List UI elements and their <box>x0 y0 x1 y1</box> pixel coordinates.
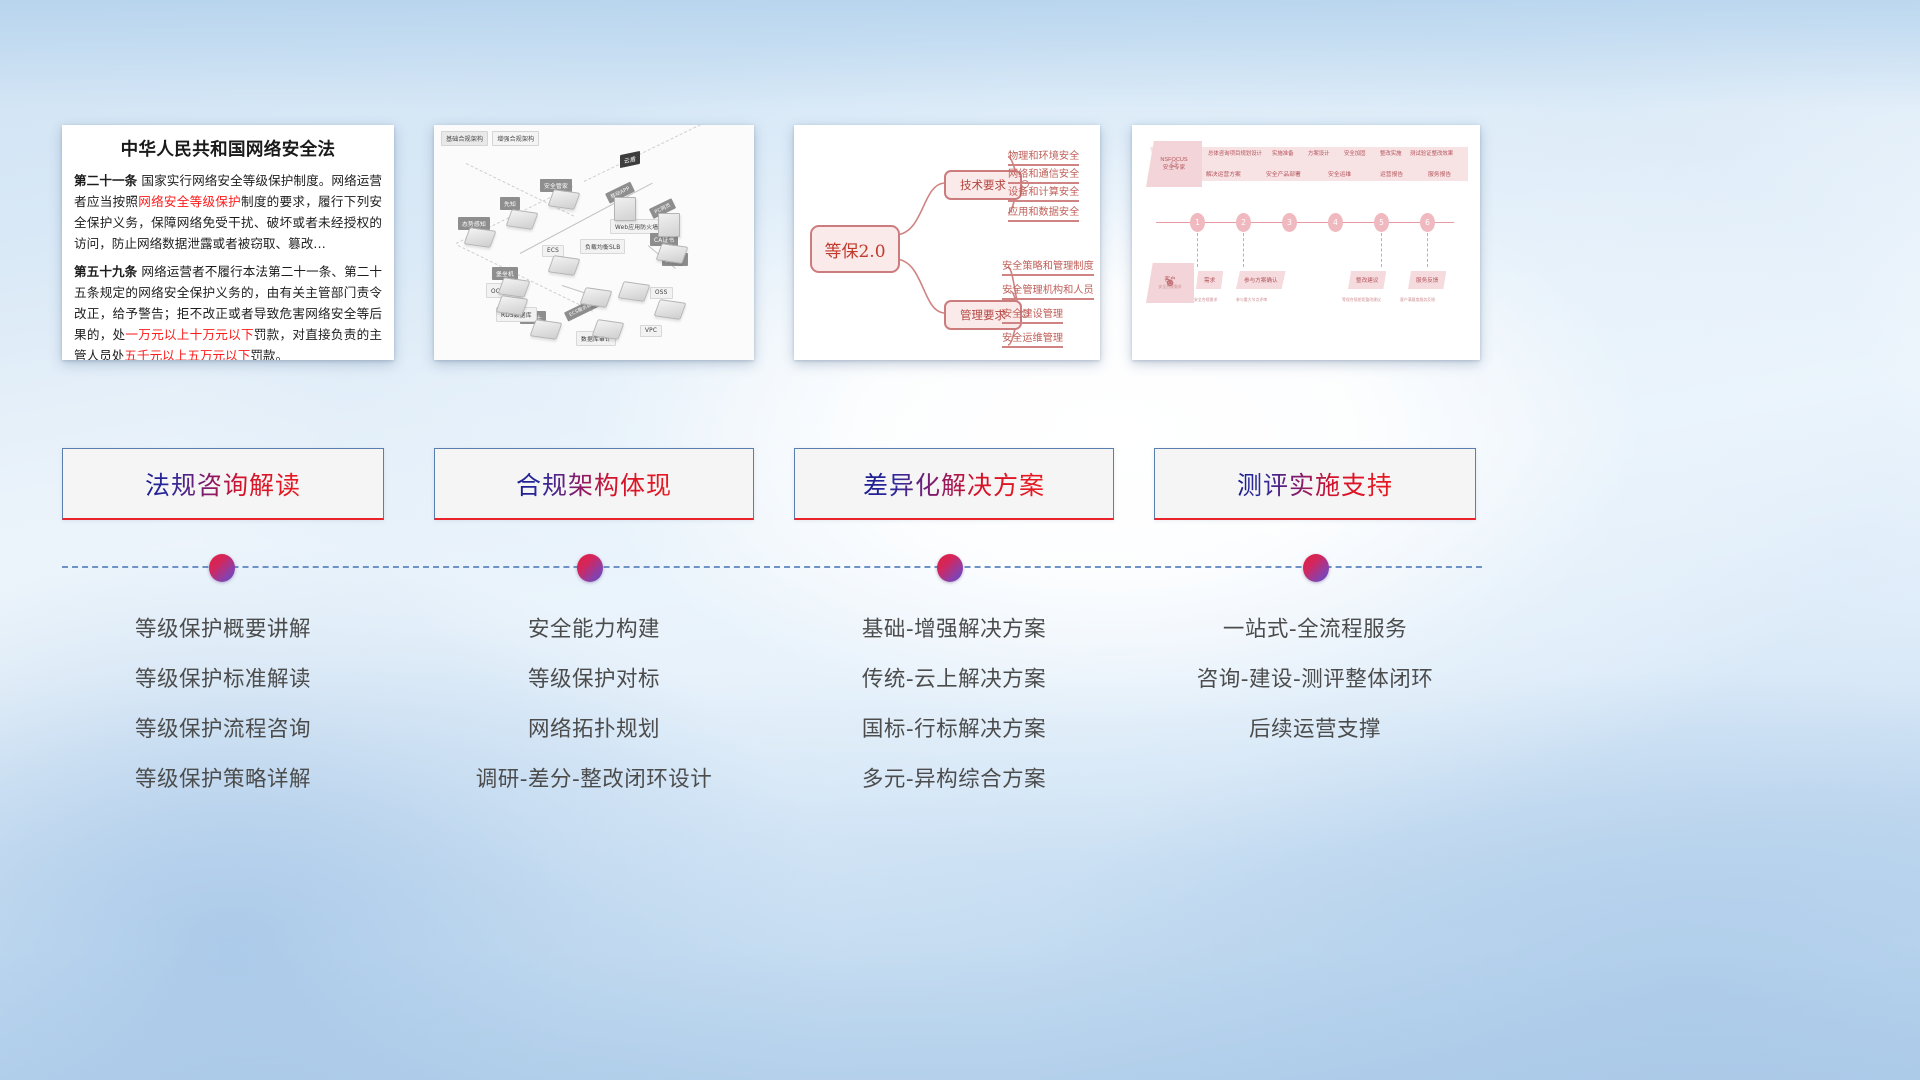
customer-badge: ☻ 客户 安全合规需求 <box>1146 263 1194 303</box>
process-step: 4 <box>1328 213 1343 232</box>
slide-stage: 中华人民共和国网络安全法 第二十一条 国家实行网络安全等级保护制度。网络运营者应… <box>0 0 1920 1080</box>
node-cloud-shield: 云盾 <box>620 151 640 168</box>
bullet-column-regulation-consulting: 等级保护概要讲解 等级保护标准解读 等级保护流程咨询 等级保护策略详解 <box>62 605 384 805</box>
device-icon <box>614 197 636 221</box>
device-icon <box>548 189 581 210</box>
plane-edge <box>584 125 719 182</box>
mindmap-leaf: 应用和数据安全 <box>1008 203 1079 222</box>
timeline-marker-1[interactable] <box>209 554 235 582</box>
process-top-label: 方案设计 <box>1308 149 1330 157</box>
article-59-label: 第五十九条 <box>74 264 137 279</box>
process-connector <box>1381 233 1382 267</box>
device-icon <box>530 319 563 340</box>
mindmap-leaf: 网络和通信安全 <box>1008 165 1079 184</box>
bullet-column-compliance-architecture: 安全能力构建 等级保护对标 网络拓扑规划 调研-差分-整改闭环设计 <box>434 605 754 805</box>
person-star-icon: ☺ <box>1168 159 1179 170</box>
list-item: 一站式-全流程服务 <box>1154 605 1476 655</box>
law-article-59: 第五十九条 网络运营者不履行本法第二十一条、第二十五条规定的网络安全保护义务的，… <box>74 261 382 360</box>
list-item: 等级保护流程咨询 <box>62 705 384 755</box>
process-step: 2 <box>1236 213 1251 232</box>
process-stage-label: 服务报告 <box>1428 169 1451 178</box>
process-step: 6 <box>1420 213 1435 232</box>
list-item: 等级保护策略详解 <box>62 755 384 805</box>
article-21-highlight: 网络安全等级保护 <box>138 194 241 209</box>
timeline <box>0 552 1920 592</box>
process-diagram: ☺ NSFOCUS 安全专家 总体咨询项目规划设计 实施准备 方案设计 安全加固… <box>1132 125 1480 360</box>
list-item: 咨询-建设-测评整体闭环 <box>1154 655 1476 705</box>
device-icon <box>618 281 651 302</box>
mindmap-leaf: 安全运维管理 <box>1002 329 1063 348</box>
device-icon <box>580 287 613 308</box>
person-check-icon: ☻ <box>1164 278 1176 289</box>
mindmap-leaf: 安全策略和管理制度 <box>1002 257 1094 276</box>
list-item: 等级保护标准解读 <box>62 655 384 705</box>
list-item: 基础-增强解决方案 <box>794 605 1114 655</box>
article-59-highlight-1: 一万元以上十万元以下 <box>125 327 253 342</box>
process-top-label: 实施准备 <box>1272 149 1294 157</box>
headline-text: 测评实施支持 <box>1237 466 1393 502</box>
process-bottom-sub: 安全合规需求 <box>1194 297 1217 303</box>
timeline-marker-3[interactable] <box>937 554 963 582</box>
mindmap-card[interactable]: 等保2.0 技术要求 管理要求 物理和环境安全 网络和通信安全 设备和计算安全 … <box>794 125 1100 360</box>
device-icon <box>654 299 687 320</box>
list-item: 多元-异构综合方案 <box>794 755 1114 805</box>
mindmap-diagram: 等保2.0 技术要求 管理要求 物理和环境安全 网络和通信安全 设备和计算安全 … <box>794 125 1100 360</box>
list-item: 网络拓扑规划 <box>434 705 754 755</box>
device-icon <box>592 319 625 340</box>
timeline-marker-4[interactable] <box>1303 554 1329 582</box>
node-xianzhi: 先知 <box>500 197 520 210</box>
tab-basic-architecture[interactable]: 基础合规架构 <box>441 131 488 146</box>
process-bottom-sub: 参与重大节点评审 <box>1236 297 1267 303</box>
list-item: 等级保护对标 <box>434 655 754 705</box>
process-bottom-sub: 客户满意度服务反馈 <box>1400 297 1435 303</box>
node-vpc: VPC <box>640 325 662 337</box>
headline-text: 合规架构体现 <box>516 466 672 502</box>
headline-box-regulation-consulting[interactable]: 法规咨询解读 <box>62 448 384 520</box>
node-slb: 负载均衡SLB <box>580 239 625 254</box>
node-oss: OSS <box>650 287 673 299</box>
mindmap-leaf: 设备和计算安全 <box>1008 183 1079 202</box>
process-bottom-tag: 整改建议 <box>1348 271 1386 289</box>
article-59-highlight-2: 五千元以上五万元以下 <box>124 348 250 360</box>
process-bottom-sub: 等保合规差距整改建议 <box>1342 297 1381 303</box>
process-connector <box>1427 233 1428 267</box>
mindmap-leaf: 物理和环境安全 <box>1008 147 1079 166</box>
headline-box-assessment-support[interactable]: 测评实施支持 <box>1154 448 1476 520</box>
list-item: 调研-差分-整改闭环设计 <box>434 755 754 805</box>
process-stage-label: 解决运营方案 <box>1206 169 1241 178</box>
device-icon <box>548 255 581 276</box>
article-21-label: 第二十一条 <box>74 173 137 188</box>
process-top-label: 总体咨询项目规划设计 <box>1208 149 1262 157</box>
device-icon <box>658 213 680 237</box>
headline-box-compliance-architecture[interactable]: 合规架构体现 <box>434 448 754 520</box>
list-item: 国标-行标解决方案 <box>794 705 1114 755</box>
law-card-title: 中华人民共和国网络安全法 <box>74 136 382 161</box>
list-item: 等级保护概要讲解 <box>62 605 384 655</box>
process-stage-label: 安全运维 <box>1328 169 1351 178</box>
timeline-dashed-line <box>62 566 1482 568</box>
process-connector <box>1197 233 1198 267</box>
headline-row: 法规咨询解读 合规架构体现 差异化解决方案 测评实施支持 <box>0 448 1920 520</box>
list-item: 安全能力构建 <box>434 605 754 655</box>
process-stage-label: 运营报告 <box>1380 169 1403 178</box>
process-connector <box>1243 233 1244 267</box>
law-article-21: 第二十一条 国家实行网络安全等级保护制度。网络运营者应当按照网络安全等级保护制度… <box>74 170 382 254</box>
tab-enhanced-architecture[interactable]: 增强合规架构 <box>492 131 539 146</box>
preview-cards-row: 中华人民共和国网络安全法 第二十一条 国家实行网络安全等级保护制度。网络运营者应… <box>0 0 1920 380</box>
process-card[interactable]: ☺ NSFOCUS 安全专家 总体咨询项目规划设计 实施准备 方案设计 安全加固… <box>1132 125 1480 360</box>
process-bottom-tag: 参与方案确认 <box>1236 271 1286 289</box>
process-top-label: 整改实施 <box>1380 149 1402 157</box>
node-waf: Web应用防火墙 <box>610 219 663 234</box>
process-bottom-tag: 需求 <box>1196 271 1223 289</box>
process-stage-label: 安全产品部署 <box>1266 169 1301 178</box>
bullet-column-assessment-support: 一站式-全流程服务 咨询-建设-测评整体闭环 后续运营支撑 <box>1154 605 1476 755</box>
mindmap-leaf: 安全建设管理 <box>1002 305 1063 324</box>
architecture-card[interactable]: 基础合规架构 增强合规架构 云盾 安全管家 先知 态势感知 堡垒机 安骑士 OC… <box>434 125 754 360</box>
architecture-tabs: 基础合规架构 增强合规架构 <box>441 131 539 146</box>
law-card-body: 中华人民共和国网络安全法 第二十一条 国家实行网络安全等级保护制度。网络运营者应… <box>62 125 394 360</box>
list-item: 后续运营支撑 <box>1154 705 1476 755</box>
architecture-diagram: 基础合规架构 增强合规架构 云盾 安全管家 先知 态势感知 堡垒机 安骑士 OC… <box>434 125 754 360</box>
mindmap-leaf: 安全管理机构和人员 <box>1002 281 1094 300</box>
process-bottom-tag: 服务反馈 <box>1408 271 1446 289</box>
headline-box-differentiated-solution[interactable]: 差异化解决方案 <box>794 448 1114 520</box>
headline-text: 法规咨询解读 <box>145 466 301 502</box>
bullet-columns: 等级保护概要讲解 等级保护标准解读 等级保护流程咨询 等级保护策略详解 安全能力… <box>0 605 1920 825</box>
headline-text: 差异化解决方案 <box>863 466 1045 502</box>
timeline-marker-2[interactable] <box>577 554 603 582</box>
nsfocus-expert-badge: ☺ NSFOCUS 安全专家 <box>1146 141 1202 187</box>
law-card[interactable]: 中华人民共和国网络安全法 第二十一条 国家实行网络安全等级保护制度。网络运营者应… <box>62 125 394 360</box>
process-top-label: 测试验证整改效果 <box>1410 149 1453 157</box>
process-step: 5 <box>1374 213 1389 232</box>
mindmap-root-node: 等保2.0 <box>810 225 900 273</box>
device-icon <box>506 209 539 230</box>
bullet-column-differentiated-solution: 基础-增强解决方案 传统-云上解决方案 国标-行标解决方案 多元-异构综合方案 <box>794 605 1114 805</box>
device-icon <box>464 227 497 248</box>
article-59-text-c: 罚款。 <box>250 348 288 360</box>
process-step: 1 <box>1190 213 1205 232</box>
process-top-label: 安全加固 <box>1344 149 1366 157</box>
list-item: 传统-云上解决方案 <box>794 655 1114 705</box>
process-step: 3 <box>1282 213 1297 232</box>
